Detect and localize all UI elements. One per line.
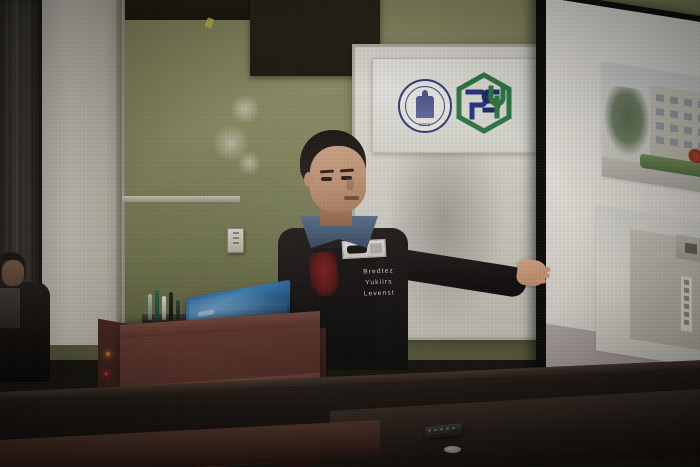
building-image-lower bbox=[630, 229, 700, 358]
shirt-graphic-red bbox=[308, 251, 340, 298]
indicator-led-amber bbox=[106, 352, 110, 356]
presenter-hand-pointing bbox=[515, 258, 548, 288]
seal-year: 1902 bbox=[400, 122, 450, 127]
audience-head bbox=[0, 252, 26, 286]
presenter-mouth bbox=[344, 196, 359, 200]
laptop-logo bbox=[198, 309, 214, 317]
university-seal-icon: 1902 bbox=[398, 79, 452, 133]
psy-hexagon-logo-icon bbox=[455, 72, 513, 134]
indicator-led-red bbox=[104, 372, 108, 376]
slide-photo-bottom bbox=[596, 206, 700, 376]
wall-switch-box[interactable] bbox=[227, 228, 244, 253]
small-disc[interactable] bbox=[444, 446, 461, 453]
audience-shirt bbox=[0, 288, 20, 328]
slide-photo-top bbox=[602, 61, 700, 200]
presenter-nose bbox=[346, 178, 354, 190]
projected-slide bbox=[546, 0, 700, 351]
vertical-signboard bbox=[680, 275, 693, 333]
presenter-ear bbox=[304, 172, 314, 187]
pillar-edge bbox=[116, 0, 122, 345]
presenter-face bbox=[310, 146, 366, 212]
audience-member bbox=[0, 252, 64, 382]
tree-image bbox=[604, 84, 650, 159]
shirt-text-block: Bredtez Yukiirs Levenst bbox=[345, 265, 412, 300]
presentation-photo-scene: 1902 bbox=[0, 0, 700, 467]
wall-seam-horizontal bbox=[120, 196, 240, 202]
shirt-text-line-3: Levenst bbox=[346, 287, 412, 300]
